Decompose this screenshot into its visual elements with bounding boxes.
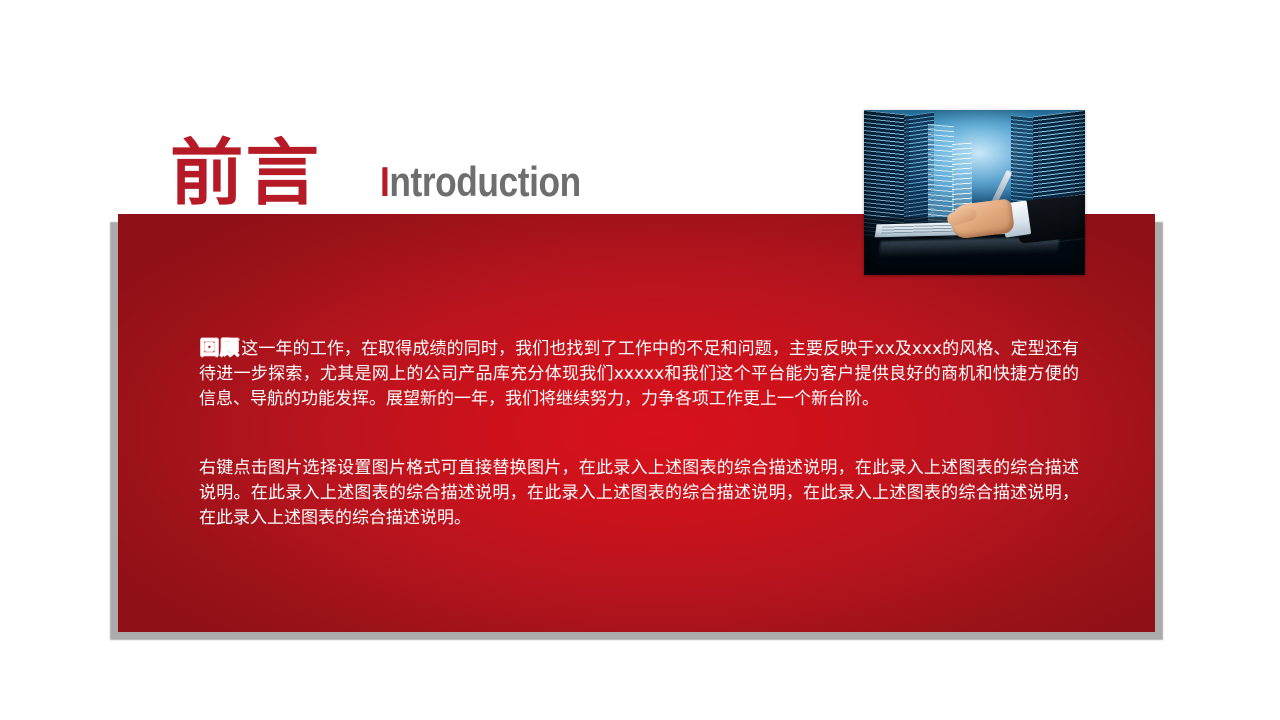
slide-title-block: 前言 Introduction bbox=[170, 126, 619, 210]
body-content: 回顾这一年的工作，在取得成绩的同时，我们也找到了工作中的不足和问题，主要反映于x… bbox=[199, 336, 1079, 531]
photo-background bbox=[864, 110, 1085, 275]
header-photo[interactable] bbox=[864, 110, 1085, 275]
slide-canvas: 前言 Introduction 回顾这一年的工作，在取得成 bbox=[0, 0, 1280, 720]
page-title-en-rest: ntroduction bbox=[389, 158, 580, 205]
page-title-cn: 前言 bbox=[170, 136, 321, 210]
paragraph-review: 回顾这一年的工作，在取得成绩的同时，我们也找到了工作中的不足和问题，主要反映于x… bbox=[199, 336, 1079, 412]
page-title-en-accent: I bbox=[380, 158, 389, 205]
paragraph-placeholder-text: 右键点击图片选择设置图片格式可直接替换图片，在此录入上述图表的综合描述说明，在此… bbox=[199, 458, 1079, 528]
paragraph-lead-in: 回顾 bbox=[199, 337, 241, 359]
paragraph-placeholder: 右键点击图片选择设置图片格式可直接替换图片，在此录入上述图表的综合描述说明，在此… bbox=[199, 456, 1079, 531]
paragraph-review-text: 这一年的工作，在取得成绩的同时，我们也找到了工作中的不足和问题，主要反映于xx及… bbox=[199, 339, 1079, 409]
page-title-en: Introduction bbox=[380, 160, 581, 204]
